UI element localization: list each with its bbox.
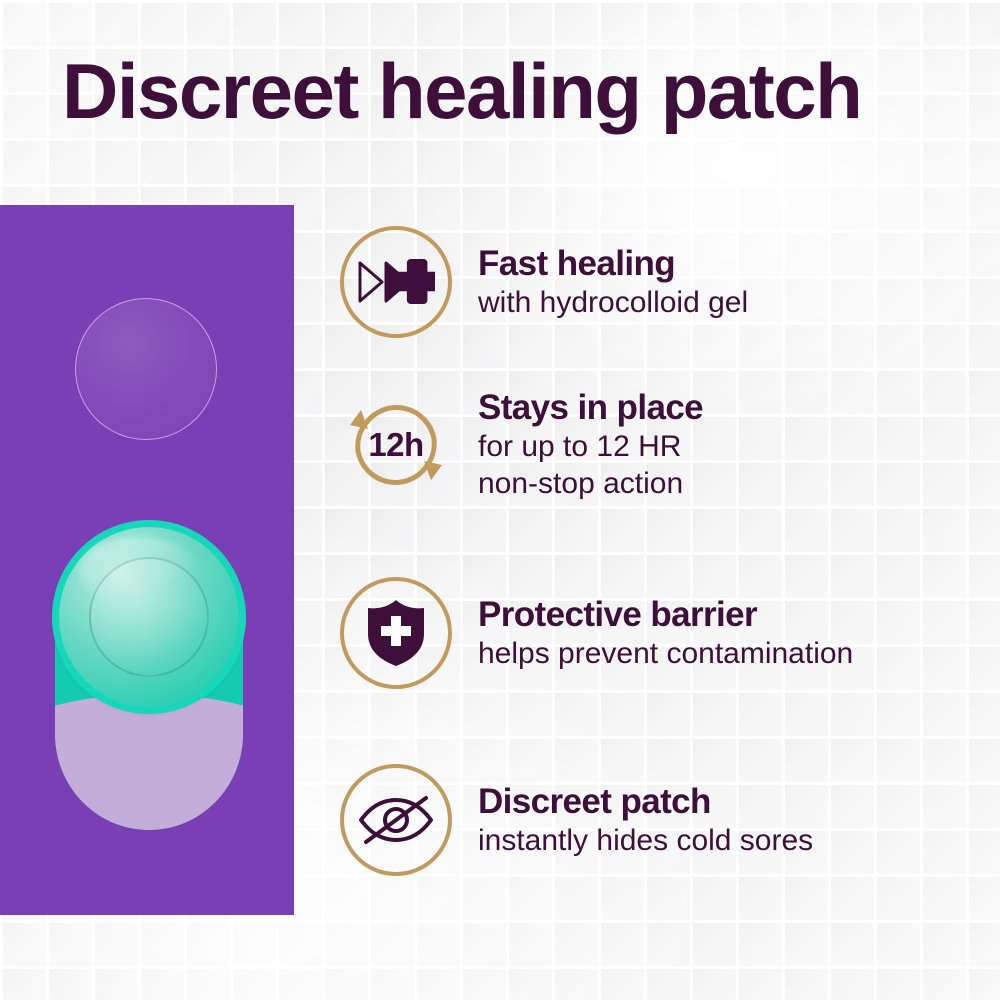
feature-heading: Stays in place bbox=[478, 389, 703, 426]
feature-subtext: for up to 12 HR bbox=[478, 429, 703, 466]
infographic-poster: Discreet healing patch bbox=[0, 0, 1000, 1000]
feature-text: Discreet patch instantly hides cold sore… bbox=[478, 781, 813, 860]
feature-item-fast-healing: Fast healing with hydrocolloid gel bbox=[340, 226, 1000, 338]
feature-item-discreet-patch: Discreet patch instantly hides cold sore… bbox=[340, 764, 1000, 876]
feature-item-protective-barrier: Protective barrier helps prevent contami… bbox=[340, 577, 1000, 689]
dispenser-gloss-highlight bbox=[79, 537, 199, 607]
feature-subtext: helps prevent contamination bbox=[478, 636, 853, 673]
eye-slash-icon bbox=[340, 764, 452, 876]
feature-text: Protective barrier helps prevent contami… bbox=[478, 594, 853, 673]
feature-subtext: with hydrocolloid gel bbox=[478, 285, 748, 322]
badge-duration-label: 12h bbox=[340, 426, 452, 464]
patch-dispenser-image bbox=[55, 525, 243, 830]
dispenser-lid bbox=[59, 527, 239, 707]
feature-heading: Fast healing bbox=[478, 245, 748, 282]
cycle-arrows-icon: 12h bbox=[340, 389, 452, 501]
fast-forward-plus-icon bbox=[340, 226, 452, 338]
dispenser-base bbox=[55, 694, 243, 830]
product-photo-panel bbox=[0, 205, 294, 915]
feature-heading: Discreet patch bbox=[478, 783, 813, 820]
page-title: Discreet healing patch bbox=[62, 52, 962, 130]
feature-heading: Protective barrier bbox=[478, 596, 853, 633]
hydrocolloid-patch-image bbox=[75, 298, 217, 440]
feature-subtext: instantly hides cold sores bbox=[478, 823, 813, 860]
feature-text: Fast healing with hydrocolloid gel bbox=[478, 243, 748, 322]
feature-item-stays-in-place: 12h Stays in place for up to 12 HR non-s… bbox=[340, 387, 1000, 502]
feature-text: Stays in place for up to 12 HR non-stop … bbox=[478, 387, 703, 502]
feature-subtext-line2: non-stop action bbox=[478, 466, 703, 503]
shield-plus-icon bbox=[340, 577, 452, 689]
